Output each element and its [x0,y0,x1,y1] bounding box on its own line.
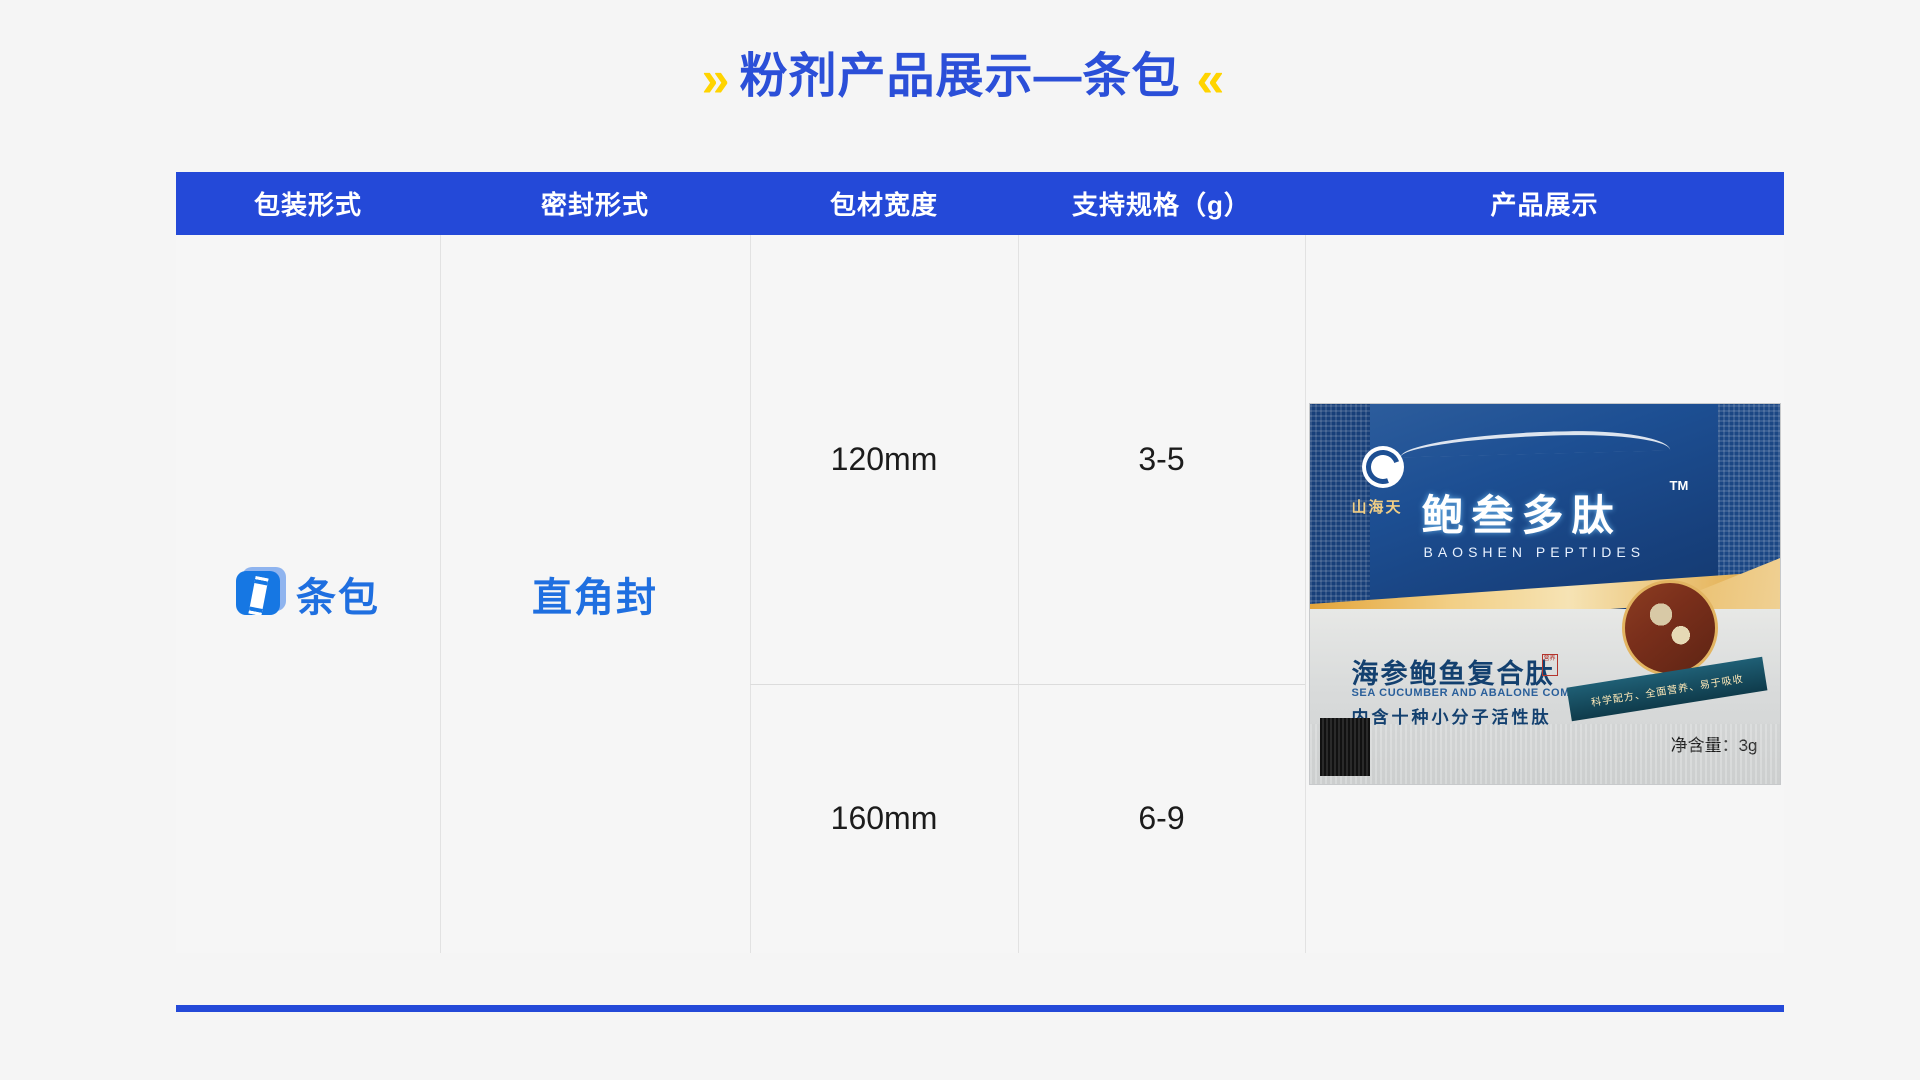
brand-name-cn: 山海天 [1352,496,1403,517]
column-header-material-width: 包材宽度 [750,185,1018,222]
supported-spec-value: 6-9 [1138,800,1184,837]
page-title-text: 粉剂产品展示—条包 [739,53,1180,101]
supported-spec-value: 3-5 [1138,441,1184,478]
cell-product-showcase: 山海天 鲍叁多肽 TM BAOSHEN PEPTIDES 海参鲍鱼复合肽 营养 … [1305,235,1784,953]
food-photo-circle [1622,580,1718,676]
page-title: » 粉剂产品展示—条包 « [0,52,1920,102]
material-width-value: 120mm [831,441,938,478]
seal-type-label: 直角封 [532,565,658,623]
cell-material-width-row2: 160mm [750,684,1018,953]
product-name-cn: 鲍叁多肽 [1422,482,1622,543]
seal-stamp: 营养 [1542,654,1558,676]
cell-supported-spec-row1: 3-5 [1018,235,1305,684]
package-type-label: 条包 [296,565,380,623]
chevron-right-double-left-icon: » [702,54,724,104]
column-header-supported-spec: 支持规格（g） [1018,185,1305,222]
trademark-mark: TM [1670,478,1689,493]
column-header-product-showcase: 产品展示 [1305,185,1784,222]
foil-gloss-texture [1310,724,1780,784]
stick-pack-icon [236,571,282,617]
cell-package-type: 条包 [176,235,440,953]
cell-seal-type: 直角封 [440,235,750,953]
spec-table: 包装形式 密封形式 包材宽度 支持规格（g） 产品展示 条包 直角封 120mm… [176,172,1784,953]
cell-material-width-row1: 120mm [750,235,1018,684]
column-header-package-type: 包装形式 [176,185,440,222]
table-body: 条包 直角封 120mm 3-5 160mm 6-9 [176,235,1784,953]
barcode-block [1320,718,1370,776]
material-width-value: 160mm [831,800,938,837]
cell-supported-spec-row2: 6-9 [1018,684,1305,953]
product-name-en: BAOSHEN PEPTIDES [1424,544,1646,560]
bottom-divider [176,1005,1784,1012]
column-header-seal-type: 密封形式 [440,185,750,222]
table-header-row: 包装形式 密封形式 包材宽度 支持规格（g） 产品展示 [176,172,1784,235]
product-photo: 山海天 鲍叁多肽 TM BAOSHEN PEPTIDES 海参鲍鱼复合肽 营养 … [1310,404,1780,784]
brand-logo-icon [1362,446,1404,488]
product-subtitle-cn: 海参鲍鱼复合肽 [1352,652,1555,691]
chevron-left-double-right-icon: « [1197,54,1219,104]
